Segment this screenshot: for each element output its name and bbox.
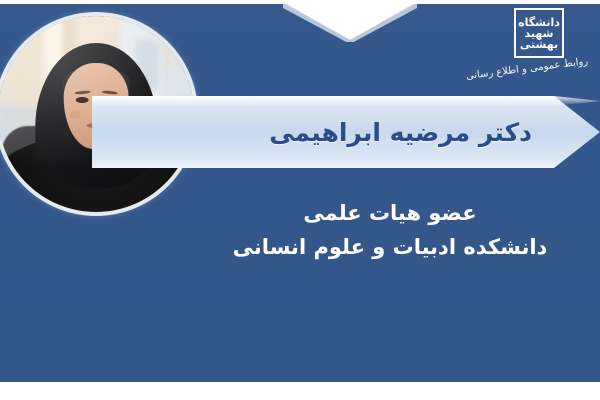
subtitle-block: عضو هیات علمی دانشکده ادبیات و علوم انسا… [190, 198, 590, 263]
eyebrow-left [75, 91, 91, 96]
logo-subtitle: روابط عمومی و اطلاع رسانی [476, 56, 589, 81]
cheek-left [70, 111, 80, 119]
university-seal-icon: دانشگاه شهید بهشتی [514, 8, 564, 58]
logo-line-3: بهشتی [520, 39, 558, 50]
subtitle-faculty: دانشکده ادبیات و علوم انسانی [190, 232, 590, 262]
faculty-profile-poster: دکتر مرضیه ابراهیمی عضو هیات علمی دانشکد… [0, 0, 600, 400]
page-title: دکتر مرضیه ابراهیمی [269, 118, 532, 147]
eyebrow-right [101, 91, 117, 96]
subtitle-position: عضو هیات علمی [190, 198, 590, 228]
name-ribbon: دکتر مرضیه ابراهیمی [92, 96, 600, 168]
eye-left [76, 97, 89, 103]
university-logo: دانشگاه شهید بهشتی روابط عمومی و اطلاع ر… [476, 6, 588, 80]
